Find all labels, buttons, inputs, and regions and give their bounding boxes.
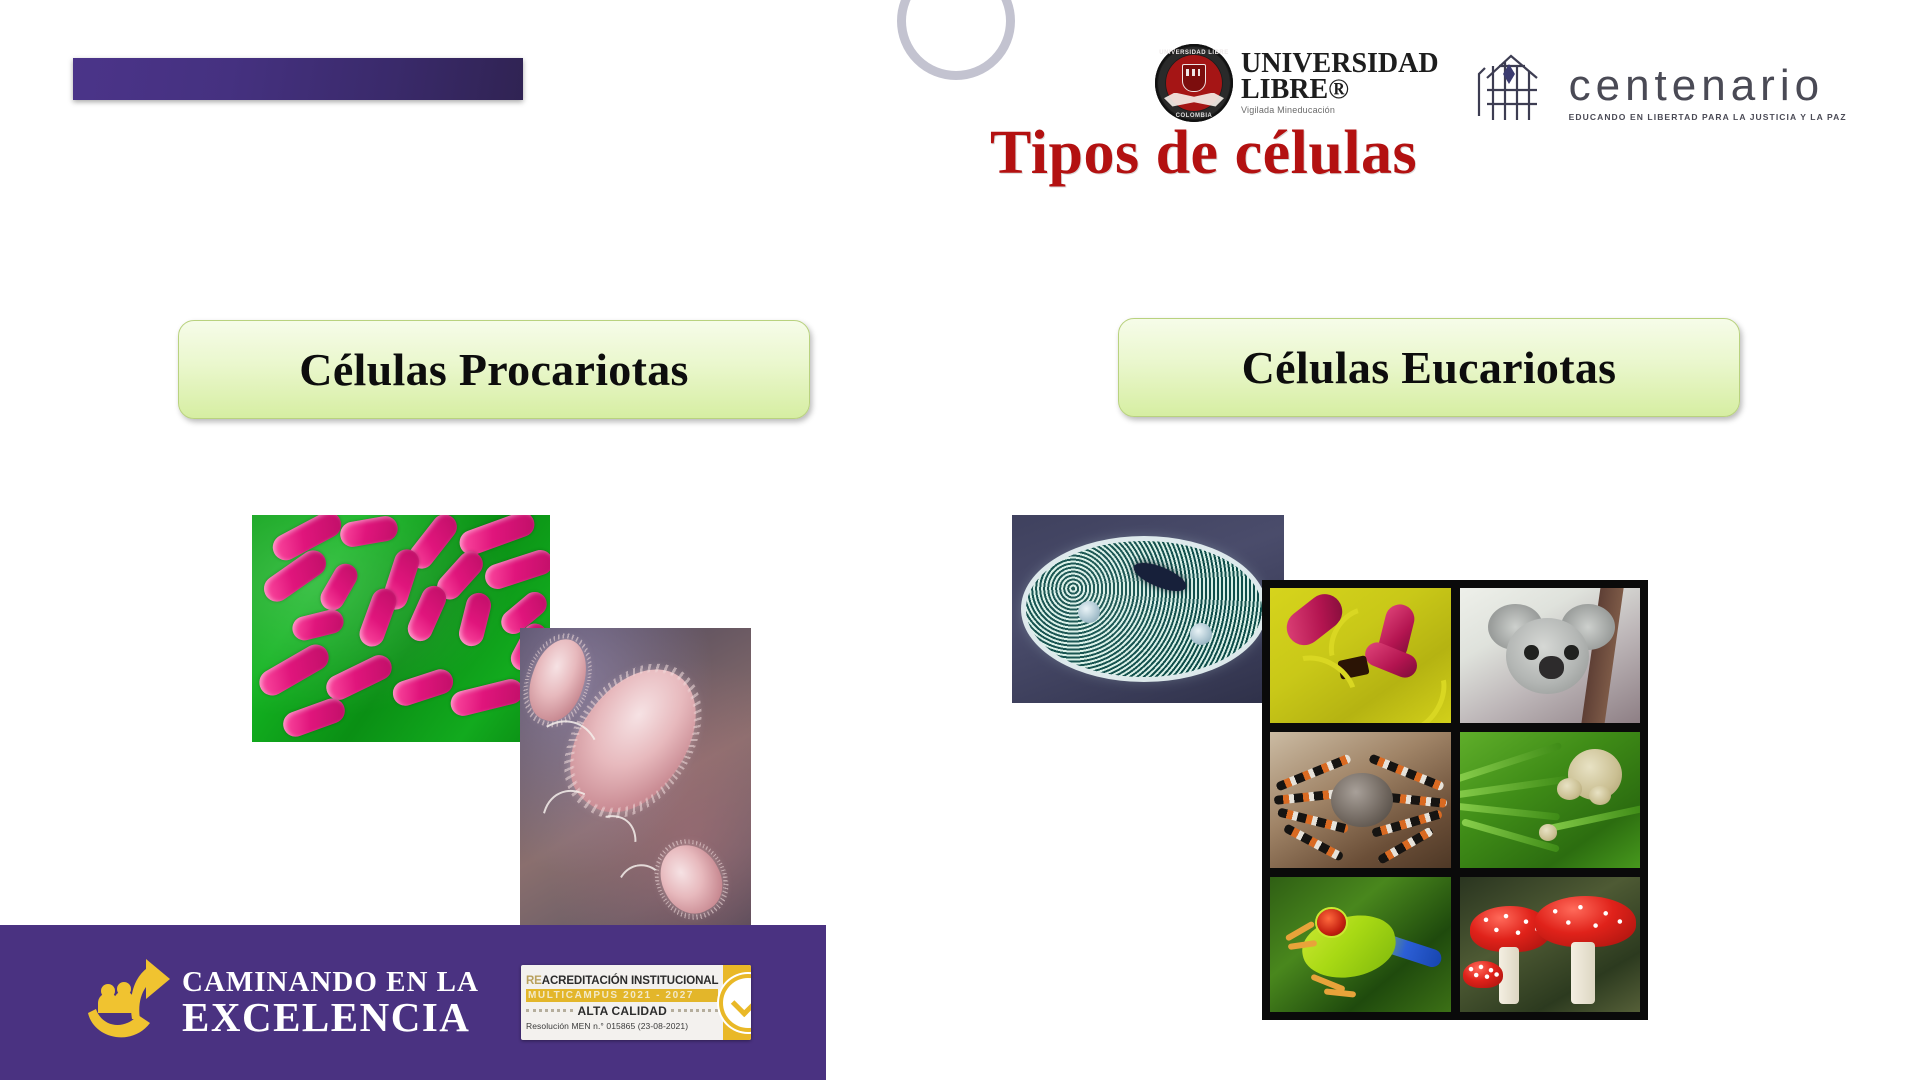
centenario-mark-icon [1475, 44, 1563, 122]
label-box-eucariotas[interactable]: Células Eucariotas [1118, 318, 1740, 417]
shield-icon [1182, 64, 1206, 92]
slogan-line1: CAMINANDO EN LA [182, 968, 479, 997]
universidad-libre-seal-icon: UNIVERSIDAD LIBRE COLOMBIA [1155, 44, 1233, 122]
accreditation-line1: ACREDITACIÓN INSTITUCIONAL [542, 975, 719, 987]
slide-canvas: UNIVERSIDAD LIBRE COLOMBIA UNIVERSIDAD L… [0, 0, 1920, 1080]
footer-banner: CAMINANDO EN LA EXCELENCIA REACREDITACIÓ… [0, 925, 826, 1080]
page-title: Tipos de células [990, 118, 1690, 189]
paramecium-micrograph [1012, 515, 1284, 703]
bacilli-micrograph [252, 515, 550, 742]
dots-right [671, 1009, 719, 1012]
caminando-arrow-icon [80, 957, 176, 1049]
label-box-procariotas[interactable]: Células Procariotas [178, 320, 810, 419]
accreditation-seal [723, 965, 751, 1040]
mushroom-photo [1460, 877, 1641, 1012]
universidad-libre-logo: UNIVERSIDAD LIBRE COLOMBIA UNIVERSIDAD L… [1155, 44, 1439, 122]
check-icon [731, 982, 751, 1017]
fern-photo [1460, 732, 1641, 867]
tree-frog-photo [1270, 877, 1451, 1012]
slogan-line2: EXCELENCIA [182, 997, 479, 1038]
accreditation-badge: REACREDITACIÓN INSTITUCIONAL MULTICAMPUS… [521, 965, 751, 1040]
koala-photo [1460, 588, 1641, 723]
label-eucariotas: Células Eucariotas [1242, 341, 1617, 394]
dots-left [526, 1009, 574, 1012]
seal-top-text: UNIVERSIDAD LIBRE [1155, 50, 1233, 56]
accreditation-prefix: RE [526, 975, 542, 987]
ul-word-line2: LIBRE® [1241, 77, 1439, 103]
accreditation-line4: Resolución MEN n.° 015865 (23-08-2021) [526, 1021, 719, 1031]
centenario-logo: centenario EDUCANDO EN LIBERTAD PARA LA … [1475, 44, 1847, 122]
ecoli-micrograph [520, 628, 751, 930]
centenario-wordmark: centenario EDUCANDO EN LIBERTAD PARA LA … [1569, 64, 1847, 122]
eukaryote-collage [1262, 580, 1648, 1020]
accreditation-line2: MULTICAMPUS 2021 - 2027 [526, 989, 719, 1002]
accreditation-line3: ALTA CALIDAD [577, 1004, 667, 1018]
label-procariotas: Células Procariotas [299, 343, 688, 396]
caminando-logo: CAMINANDO EN LA EXCELENCIA [80, 957, 479, 1049]
bacteria-yellow-photo [1270, 588, 1451, 723]
tarantula-photo [1270, 732, 1451, 867]
paramecium-body [1026, 541, 1262, 677]
ul-tagline: Vigilada Mineducación [1241, 106, 1439, 114]
accent-bar [73, 58, 523, 100]
universidad-libre-wordmark: UNIVERSIDAD LIBRE® Vigilada Mineducación [1241, 51, 1439, 114]
ring-decoration-icon [897, 0, 1015, 80]
caminando-wordmark: CAMINANDO EN LA EXCELENCIA [182, 968, 479, 1038]
centenario-word: centenario [1569, 64, 1847, 108]
